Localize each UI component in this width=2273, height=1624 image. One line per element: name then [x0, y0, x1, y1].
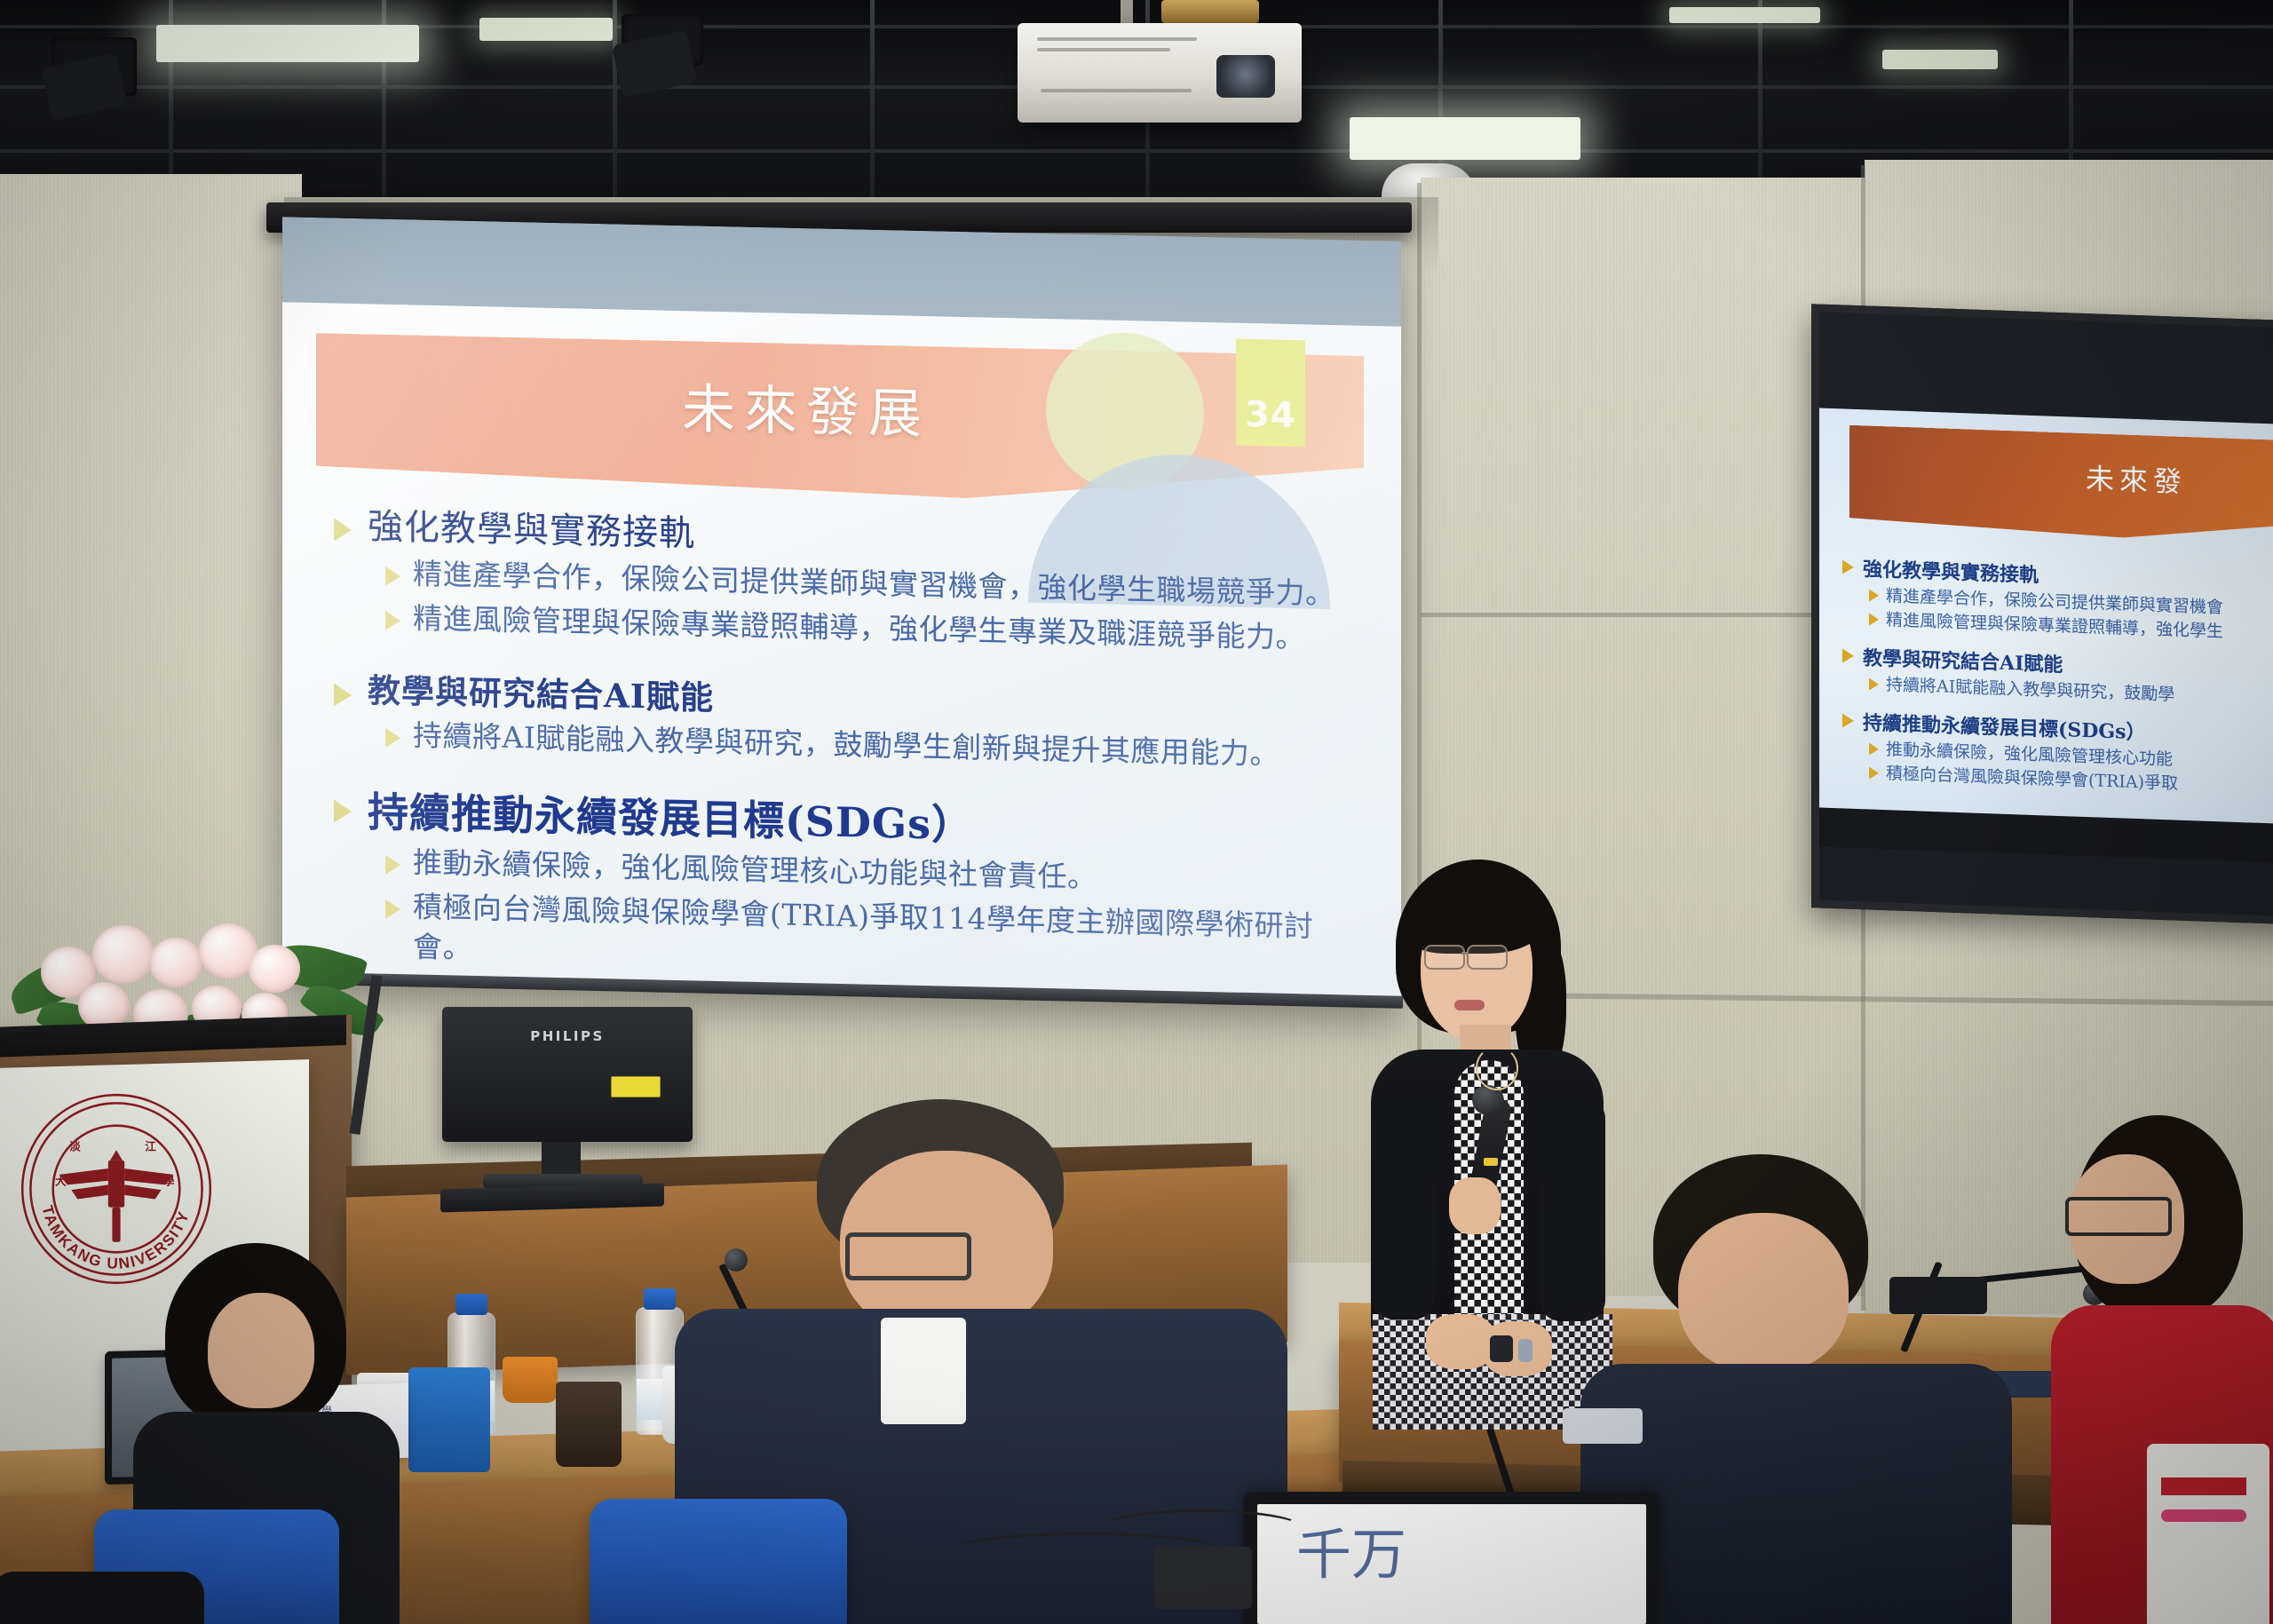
ceiling-grid-rail [0, 149, 2273, 153]
svg-text:淡: 淡 [69, 1140, 81, 1153]
whiteboard-surface: 千万 [1257, 1504, 1646, 1624]
slide-content: 34 未來發展 強化教學與實務接軌 精進產學合作，保險公司提供業師與實習機會，強… [282, 302, 1401, 1001]
bullet-text: 積極向台灣風險與保險學會(TRIA)爭取114學年度主辦國際學術研討會。 [413, 888, 1364, 987]
bracelet [1518, 1339, 1532, 1362]
triangle-bullet-icon [334, 683, 352, 706]
tv-header-banner [1849, 425, 2273, 546]
slide-bullet: 積極向台灣風險與保險學會(TRIA)爭取114學年度主辦國際學術研討會。 [385, 887, 1364, 986]
triangle-bullet-icon [1842, 559, 1854, 574]
necklace [1476, 1046, 1518, 1090]
wristwatch [1490, 1335, 1513, 1362]
chair-back [0, 1572, 204, 1624]
spotlight-fixture [622, 14, 703, 66]
audience-member [2051, 1115, 2273, 1624]
ceiling-light-icon [156, 25, 419, 62]
ceiling-light-icon [1882, 50, 1998, 69]
monitor-brand-label: PHILIPS [442, 1028, 693, 1044]
chair [590, 1499, 847, 1624]
eyeglass-bridge [1461, 952, 1469, 955]
tv-bezel-bottom [1819, 847, 2273, 917]
tv-slide-title: 未來發 [2086, 456, 2187, 501]
monitor-sticker [611, 1076, 661, 1097]
slide-body: 強化教學與實務接軌 精進產學合作，保險公司提供業師與實習機會，強化學生職場競爭力… [334, 504, 1364, 993]
eyeglasses-icon [1424, 945, 1465, 970]
presenter-mouth [1454, 1000, 1485, 1010]
bag-graphic [2161, 1509, 2246, 1522]
svg-text:學: 學 [163, 1174, 175, 1187]
ceiling-grid-rail [870, 0, 875, 209]
svg-text:江: 江 [145, 1139, 156, 1153]
presenter-arm [1373, 1097, 1435, 1319]
triangle-bullet-icon [1869, 613, 1879, 625]
eyeglasses-icon [845, 1232, 971, 1280]
triangle-bullet-icon [1842, 713, 1854, 727]
handwritten-text: 千万 [1296, 1509, 1406, 1589]
svg-text:大: 大 [55, 1174, 67, 1187]
triangle-bullet-icon [385, 611, 400, 630]
spotlight-fixture [51, 37, 137, 96]
handwriting-tablet[interactable]: 千万 [1243, 1492, 1660, 1624]
projection-screen: 34 未來發展 強化教學與實務接軌 精進產學合作，保險公司提供業師與實習機會，強… [282, 217, 1401, 1004]
section-heading-text: 教學與研究結合AI賦能 [368, 669, 714, 719]
device-box [1154, 1547, 1252, 1609]
lecture-hall-photo: 34 未來發展 強化教學與實務接軌 精進產學合作，保險公司提供業師與實習機會，強… [0, 0, 2273, 1624]
triangle-bullet-icon [385, 855, 400, 875]
ceiling-grid-rail [613, 0, 617, 209]
coffee-cup [556, 1382, 622, 1467]
triangle-bullet-icon [334, 800, 352, 823]
paper-item [1563, 1408, 1643, 1444]
triangle-bullet-icon [1869, 589, 1879, 601]
eyeglasses-icon [2065, 1197, 2172, 1236]
tote-bag [2147, 1444, 2269, 1624]
ceiling-light-icon [1669, 7, 1820, 23]
section-heading-text: 強化教學與實務接軌 [368, 504, 695, 557]
presenter-hand [1449, 1177, 1501, 1234]
desktop-monitor: PHILIPS [442, 1007, 693, 1142]
shirt-collar [881, 1318, 966, 1424]
triangle-bullet-icon [385, 728, 400, 748]
tv-slide-body: 強化教學與實務接軌 精進產學合作，保險公司提供業師與實習機會 精進風險管理與保險… [1842, 552, 2273, 801]
bag-graphic [2161, 1477, 2246, 1495]
triangle-bullet-icon [1869, 766, 1879, 779]
ceiling-light-icon [1350, 117, 1580, 160]
triangle-bullet-icon [1869, 742, 1879, 755]
cup-lid [503, 1357, 558, 1403]
triangle-bullet-icon [1869, 677, 1879, 690]
triangle-bullet-icon [334, 519, 352, 542]
secondary-display: 未來發 強化教學與實務接軌 精進產學合作，保險公司提供業師與實習機會 精進風險管… [1811, 304, 2273, 925]
projector-icon [1018, 23, 1302, 123]
eyeglasses-icon [1467, 945, 1508, 970]
triangle-bullet-icon [1842, 648, 1854, 662]
projector-bracket [1161, 0, 1259, 23]
ceiling-light-icon [479, 18, 613, 41]
triangle-bullet-icon [385, 566, 400, 586]
microphone-indicator [1484, 1158, 1498, 1166]
